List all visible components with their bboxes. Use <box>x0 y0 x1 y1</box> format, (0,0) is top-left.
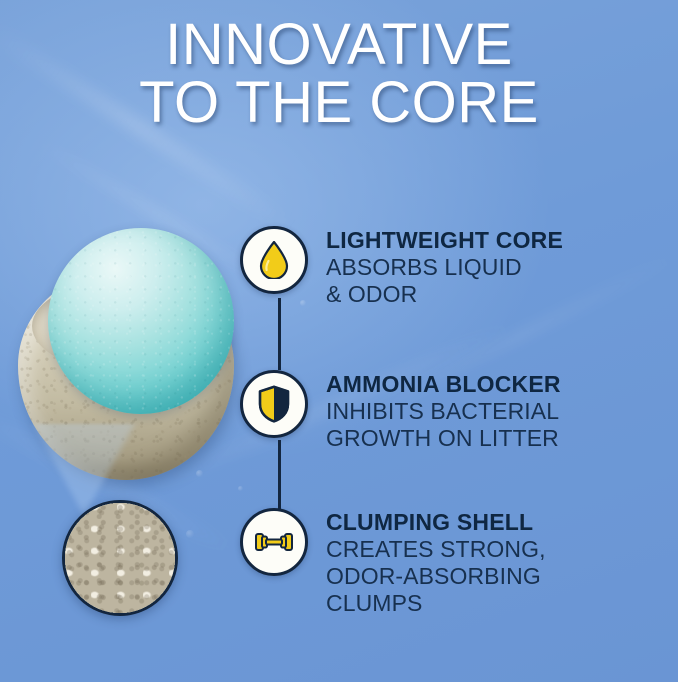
connector-line <box>278 298 281 370</box>
feature-description: INHIBITS BACTERIAL GROWTH ON LITTER <box>326 398 561 452</box>
feature-badge[interactable] <box>240 508 308 576</box>
page-title: INNOVATIVE TO THE CORE <box>0 16 678 132</box>
shield-icon <box>258 385 290 423</box>
infographic-canvas: INNOVATIVE TO THE CORE <box>0 0 678 682</box>
feature-heading: CLUMPING SHELL <box>326 509 546 536</box>
feature-description-line: CREATES STRONG, <box>326 536 546 563</box>
bokeh-dot-icon <box>186 530 194 538</box>
feature-description-line: ODOR-ABSORBING <box>326 563 546 590</box>
feature-heading: LIGHTWEIGHT CORE <box>326 227 563 254</box>
feature-description-line: GROWTH ON LITTER <box>326 425 561 452</box>
feature-heading: AMMONIA BLOCKER <box>326 371 561 398</box>
product-illustration <box>8 228 248 498</box>
feature-item-lightweight-core[interactable]: LIGHTWEIGHT CORE ABSORBS LIQUID & ODOR <box>240 226 670 308</box>
feature-item-ammonia-blocker[interactable]: AMMONIA BLOCKER INHIBITS BACTERIAL GROWT… <box>240 370 670 452</box>
feature-description: CREATES STRONG, ODOR-ABSORBING CLUMPS <box>326 536 546 617</box>
page-title-line-2: TO THE CORE <box>0 74 678 132</box>
feature-description-line: & ODOR <box>326 281 563 308</box>
feature-description: ABSORBS LIQUID & ODOR <box>326 254 563 308</box>
droplet-icon <box>259 241 289 279</box>
lightweight-core-graphic <box>48 228 234 414</box>
feature-description-line: INHIBITS BACTERIAL <box>326 398 561 425</box>
feature-badge[interactable] <box>240 370 308 438</box>
dumbbell-icon <box>254 529 294 555</box>
feature-text: LIGHTWEIGHT CORE ABSORBS LIQUID & ODOR <box>326 226 563 308</box>
feature-description-line: ABSORBS LIQUID <box>326 254 563 281</box>
feature-badge[interactable] <box>240 226 308 294</box>
feature-text: AMMONIA BLOCKER INHIBITS BACTERIAL GROWT… <box>326 370 561 452</box>
page-title-line-1: INNOVATIVE <box>0 16 678 74</box>
litter-granules-texture <box>65 503 175 613</box>
feature-item-clumping-shell[interactable]: CLUMPING SHELL CREATES STRONG, ODOR-ABSO… <box>240 508 670 617</box>
feature-text: CLUMPING SHELL CREATES STRONG, ODOR-ABSO… <box>326 508 546 617</box>
core-texture <box>48 228 234 414</box>
feature-list: LIGHTWEIGHT CORE ABSORBS LIQUID & ODOR <box>240 226 670 617</box>
granule-closeup-circle <box>62 500 178 616</box>
feature-description-line: CLUMPS <box>326 590 546 617</box>
